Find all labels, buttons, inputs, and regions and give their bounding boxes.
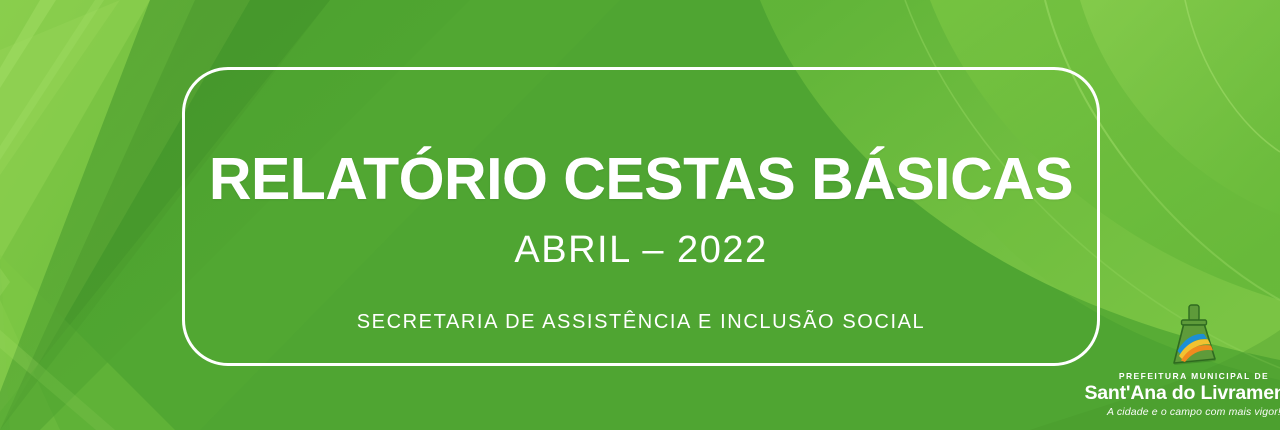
report-banner: RELATÓRIO CESTAS BÁSICAS ABRIL – 2022 SE…	[0, 0, 1280, 430]
logo-prefix-text: PREFEITURA MUNICIPAL DE	[1119, 372, 1269, 381]
city-hall-logo: PREFEITURA MUNICIPAL DE Sant'Ana do Livr…	[1112, 303, 1276, 427]
report-department: SECRETARIA DE ASSISTÊNCIA E INCLUSÃO SOC…	[357, 312, 926, 332]
page-title: RELATÓRIO CESTAS BÁSICAS	[209, 150, 1073, 209]
title-block: RELATÓRIO CESTAS BÁSICAS ABRIL – 2022 SE…	[182, 67, 1100, 366]
logo-city-name: Sant'Ana do Livramento	[1084, 383, 1280, 404]
report-period: ABRIL – 2022	[514, 231, 767, 269]
cowbell-icon	[1163, 303, 1225, 369]
logo-tagline: A cidade e o campo com mais vigor!	[1107, 407, 1280, 418]
